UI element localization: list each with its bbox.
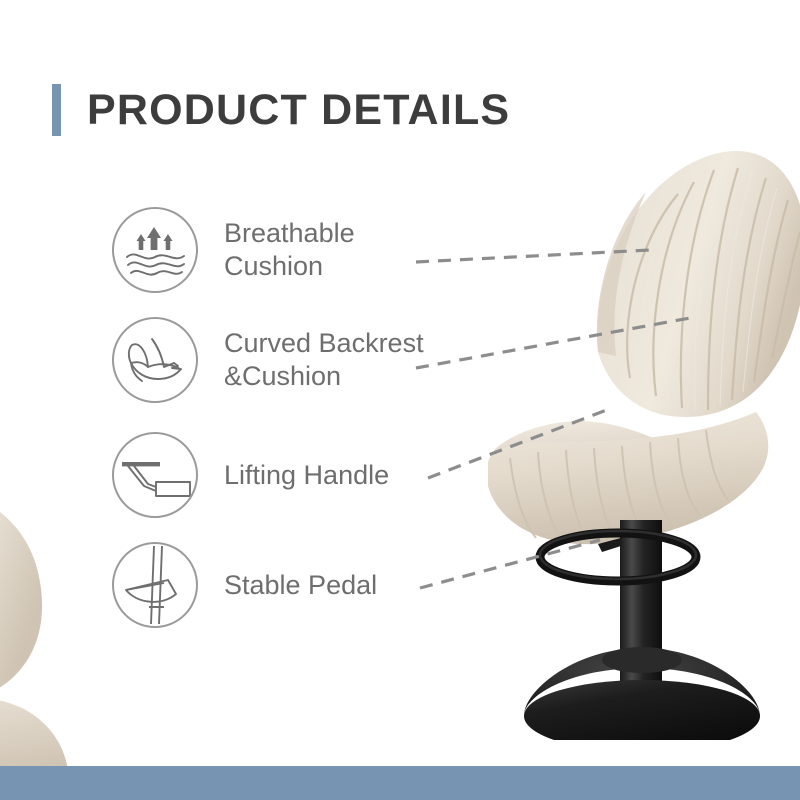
chair-illustration-secondary bbox=[0, 470, 140, 790]
feature-label-curved-backrest: Curved Backrest &Cushion bbox=[224, 327, 424, 393]
product-chair-image bbox=[470, 120, 800, 740]
feature-label-lifting-handle: Lifting Handle bbox=[224, 459, 389, 492]
breathable-arrows-waves-icon bbox=[112, 207, 198, 293]
stable-pedal-footrest-icon bbox=[112, 542, 198, 628]
feature-item-lifting-handle: Lifting Handle bbox=[112, 432, 389, 518]
page-title-block: PRODUCT DETAILS bbox=[52, 82, 510, 138]
feature-label-stable-pedal: Stable Pedal bbox=[224, 569, 377, 602]
feature-item-breathable-cushion: Breathable Cushion bbox=[112, 207, 355, 293]
curved-backrest-chair-icon bbox=[112, 317, 198, 403]
chair-base bbox=[524, 647, 760, 740]
page-title: PRODUCT DETAILS bbox=[87, 89, 510, 132]
feature-item-stable-pedal: Stable Pedal bbox=[112, 542, 377, 628]
product-chair-image-secondary bbox=[0, 470, 140, 790]
title-accent-bar bbox=[52, 84, 61, 136]
chair-illustration bbox=[470, 120, 800, 740]
bottom-accent-band bbox=[0, 766, 800, 800]
feature-label-breathable-cushion: Breathable Cushion bbox=[224, 217, 355, 283]
feature-item-curved-backrest: Curved Backrest &Cushion bbox=[112, 317, 424, 403]
product-details-infographic: PRODUCT DETAILS Breathable Cushion bbox=[0, 0, 800, 800]
lifting-handle-lever-icon bbox=[112, 432, 198, 518]
chair-backrest bbox=[597, 151, 800, 417]
